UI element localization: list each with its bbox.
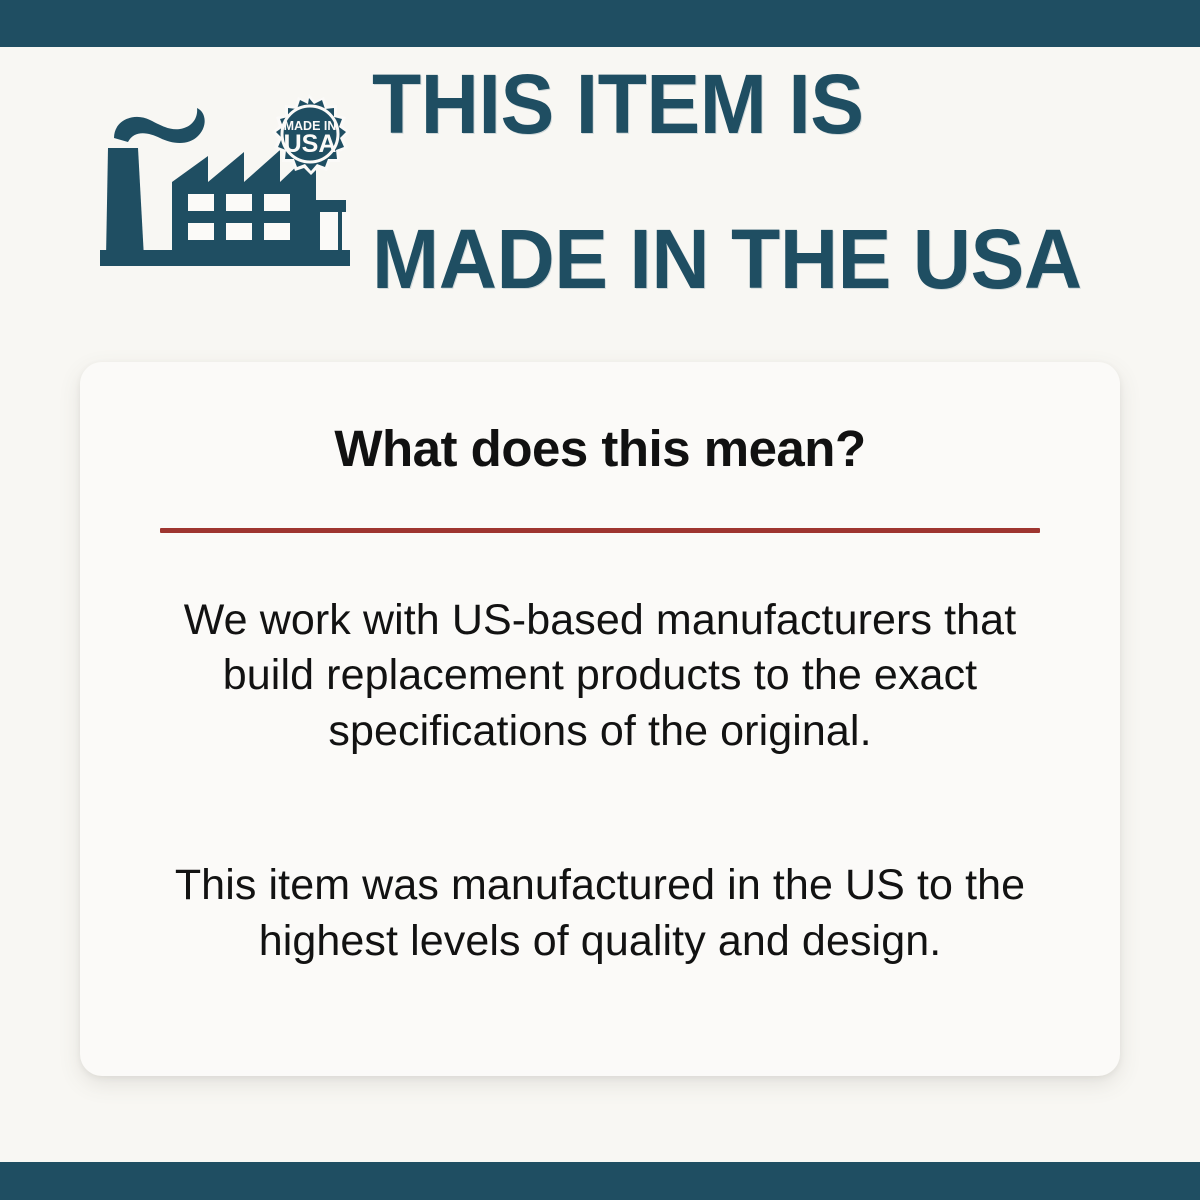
badge-line-2: USA — [284, 130, 337, 158]
card-heading: What does this mean? — [334, 422, 865, 476]
info-card: What does this mean? We work with US-bas… — [80, 362, 1120, 1076]
page-title-line-2: MADE IN THE USA — [372, 221, 1082, 298]
page-title-line-1: THIS ITEM IS — [372, 66, 1082, 143]
page-root: MADE IN USA THIS ITEM IS MADE IN THE USA… — [0, 0, 1200, 1200]
factory-made-in-usa-icon: MADE IN USA — [100, 90, 350, 275]
card-paragraph-2: This item was manufactured in the US to … — [160, 858, 1040, 970]
header: MADE IN USA THIS ITEM IS MADE IN THE USA — [0, 47, 1200, 317]
bottom-accent-bar — [0, 1162, 1200, 1200]
card-paragraph-1: We work with US-based manufacturers that… — [160, 593, 1040, 761]
heading-divider — [160, 528, 1040, 533]
page-title: THIS ITEM IS MADE IN THE USA — [372, 0, 1082, 375]
